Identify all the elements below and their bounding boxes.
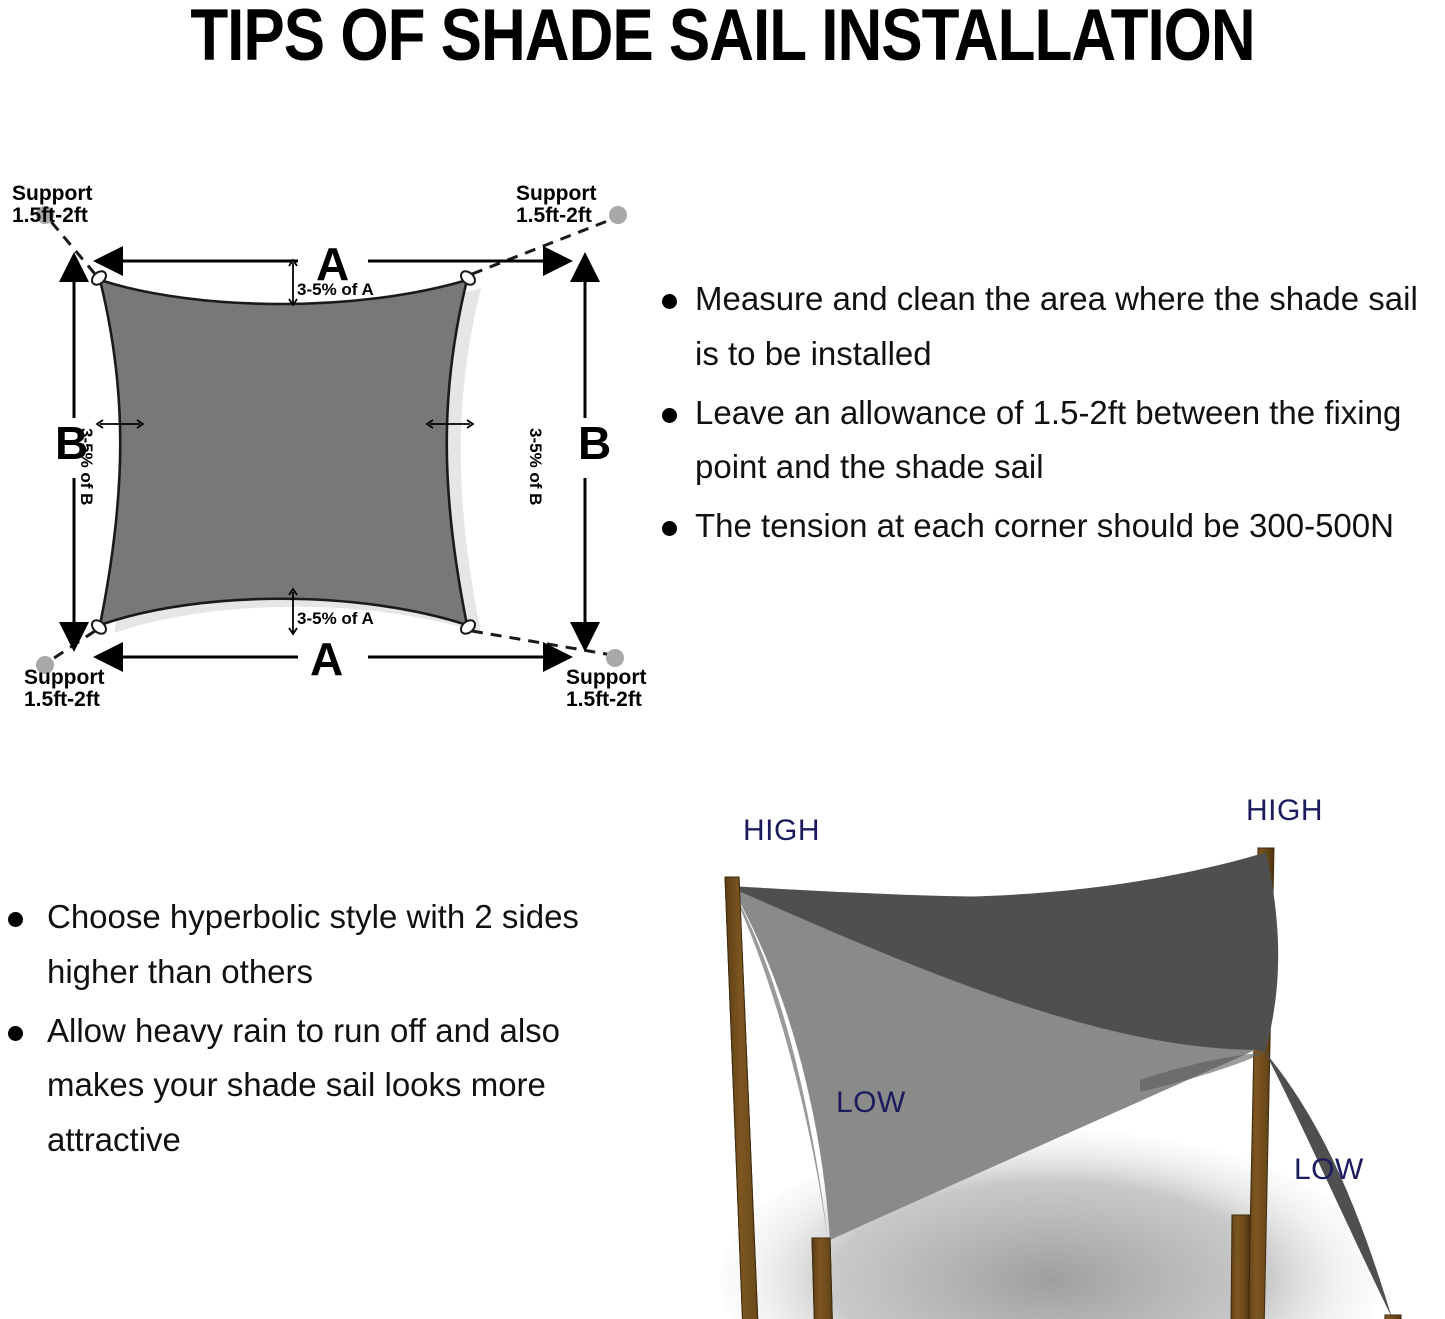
dimension-label-a-bottom: A — [310, 636, 343, 682]
sag-label-b-right: 3-5% of B — [525, 428, 545, 505]
support-label-top-right-line2: 1.5ft-2ft — [516, 205, 596, 227]
label-high-left: HIGH — [743, 814, 820, 848]
rectangular-sail-diagram: Support 1.5ft-2ft Support 1.5ft-2ft Supp… — [0, 160, 660, 730]
list-item-text: Leave an allowance of 1.5-2ft between th… — [695, 394, 1401, 486]
list-item-text: The tension at each corner should be 300… — [695, 507, 1394, 544]
support-label-top-right: Support 1.5ft-2ft — [516, 183, 596, 228]
label-low-left: LOW — [836, 1086, 906, 1120]
label-high-right: HIGH — [1246, 794, 1323, 828]
support-label-bottom-right: Support 1.5ft-2ft — [566, 667, 646, 712]
bullet-dot-icon — [662, 294, 677, 309]
dimension-label-b-right: B — [578, 420, 611, 466]
support-label-bottom-left: Support 1.5ft-2ft — [24, 667, 104, 712]
support-line-bottom-right — [472, 631, 612, 655]
sag-label-a-bottom: 3-5% of A — [297, 609, 374, 629]
sail-body — [100, 280, 467, 625]
list-item-text: Allow heavy rain to run off and also mak… — [47, 1012, 560, 1159]
support-label-top-left: Support 1.5ft-2ft — [12, 183, 92, 228]
post-low-far-right-front — [1379, 1315, 1401, 1319]
bullet-dot-icon — [662, 408, 677, 423]
list-item: Allow heavy rain to run off and also mak… — [0, 1004, 625, 1168]
tips-list-right: Measure and clean the area where the sha… — [648, 272, 1445, 558]
post-low-right — [1230, 1215, 1250, 1319]
bullet-dot-icon — [8, 912, 23, 927]
list-item: Leave an allowance of 1.5-2ft between th… — [648, 386, 1445, 496]
list-item-text: Choose hyperbolic style with 2 sides hig… — [47, 898, 579, 990]
support-label-bottom-left-line2: 1.5ft-2ft — [24, 689, 104, 711]
bullet-dot-icon — [8, 1026, 23, 1041]
support-label-bottom-left-line1: Support — [24, 667, 104, 689]
anchor-dot-top-right — [609, 206, 627, 224]
hyperbolic-diagram-graphics — [640, 790, 1445, 1319]
support-line-bottom-left — [48, 631, 95, 662]
sag-label-a-top: 3-5% of A — [297, 280, 374, 300]
page-root: TIPS OF SHADE SAIL INSTALLATION — [0, 0, 1445, 1319]
list-item: The tension at each corner should be 300… — [648, 499, 1445, 554]
tips-left-ul: Choose hyperbolic style with 2 sides hig… — [0, 890, 625, 1168]
page-title: TIPS OF SHADE SAIL INSTALLATION — [0, 0, 1445, 78]
list-item: Measure and clean the area where the sha… — [648, 272, 1445, 382]
hyperbolic-sail-diagram: HIGH HIGH LOW LOW — [640, 790, 1445, 1319]
bullet-dot-icon — [662, 521, 677, 536]
support-label-bottom-right-line2: 1.5ft-2ft — [566, 689, 646, 711]
list-item-text: Measure and clean the area where the sha… — [695, 280, 1418, 372]
tips-list-left: Choose hyperbolic style with 2 sides hig… — [0, 890, 625, 1172]
tips-right-ul: Measure and clean the area where the sha… — [648, 272, 1445, 554]
support-label-top-right-line1: Support — [516, 183, 596, 205]
label-low-right: LOW — [1294, 1153, 1364, 1187]
support-label-top-left-line2: 1.5ft-2ft — [12, 205, 92, 227]
list-item: Choose hyperbolic style with 2 sides hig… — [0, 890, 625, 1000]
support-label-bottom-right-line1: Support — [566, 667, 646, 689]
sag-label-b-left: 3-5% of B — [76, 428, 96, 505]
support-label-top-left-line1: Support — [12, 183, 92, 205]
anchor-dot-bottom-right — [606, 649, 624, 667]
